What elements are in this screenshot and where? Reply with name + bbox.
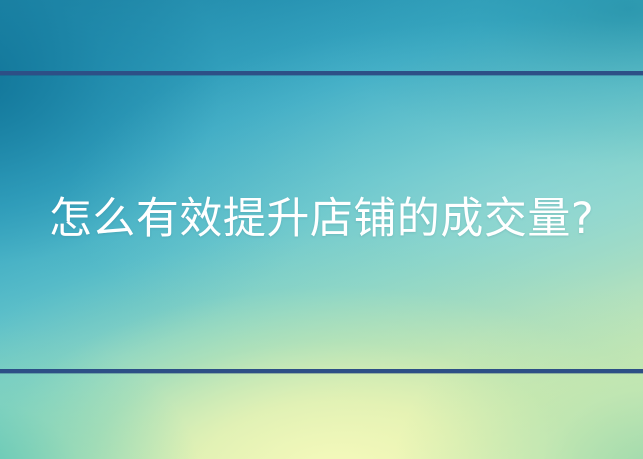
divider-rule-bottom xyxy=(0,369,643,373)
background-gradient-bottom-right xyxy=(0,0,643,459)
banner-image: 怎么有效提升店铺的成交量? xyxy=(0,0,643,459)
divider-rule-top xyxy=(0,71,643,75)
